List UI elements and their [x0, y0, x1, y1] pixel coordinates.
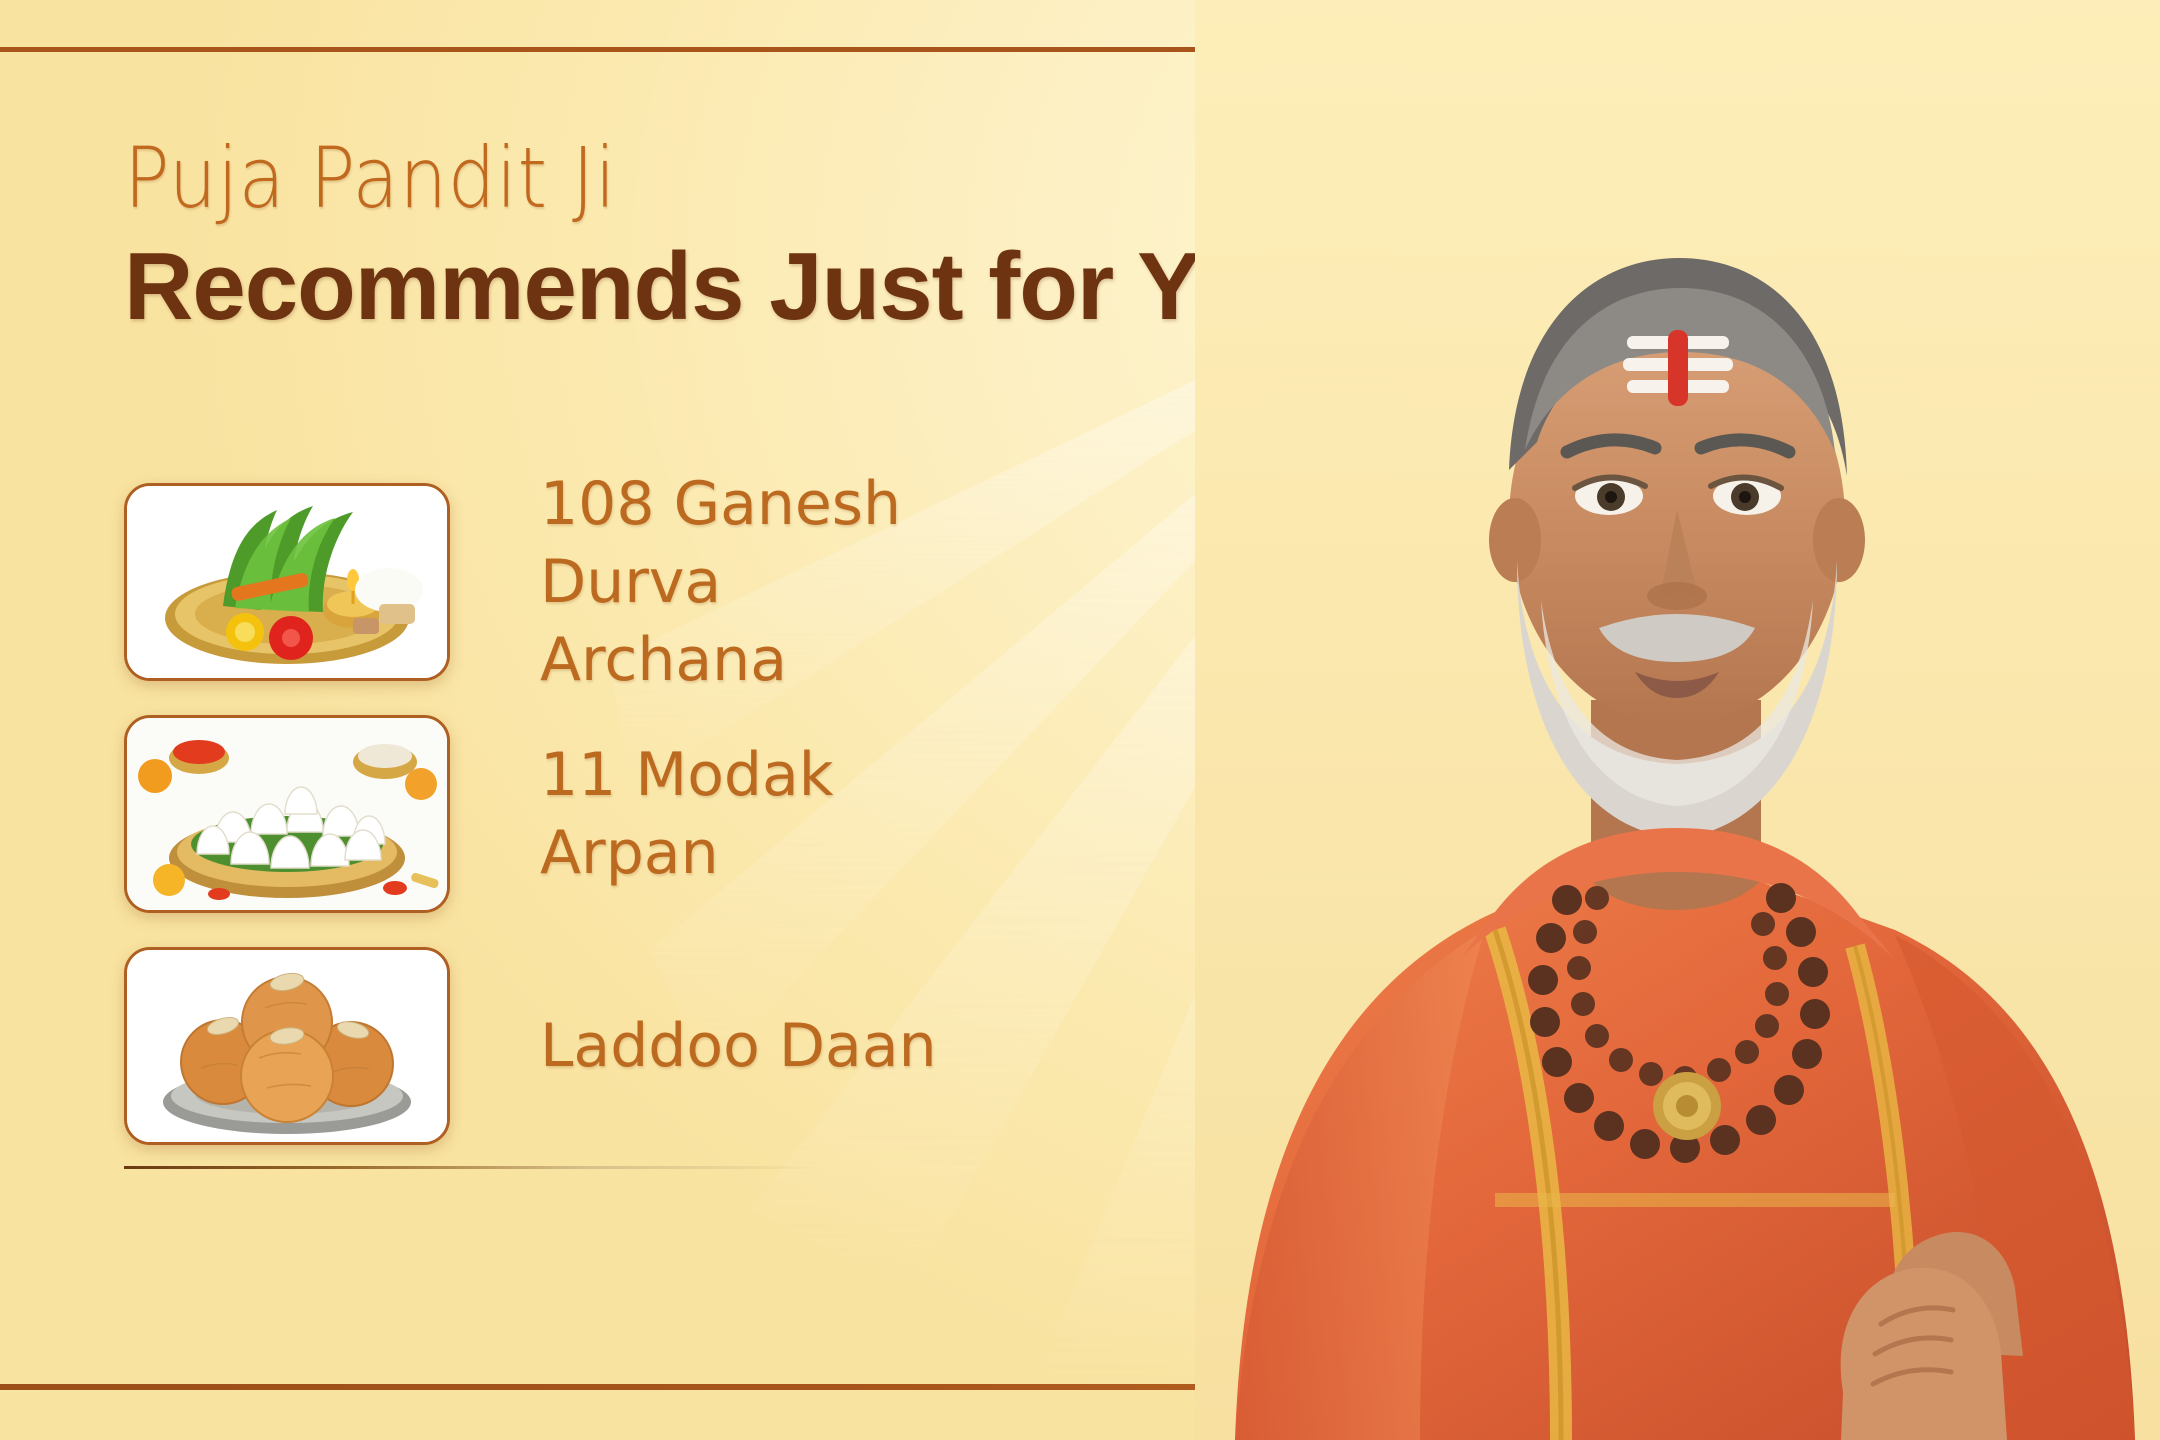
pandit-portrait — [1195, 0, 2160, 1440]
list-item[interactable]: 108 Ganesh Durva Archana — [124, 466, 944, 698]
modak-plate-thumbnail[interactable] — [124, 715, 450, 913]
list-item[interactable]: 11 Modak Arpan — [124, 698, 944, 930]
list-item[interactable]: Laddoo Daan — [124, 930, 944, 1162]
recommendation-list: 108 Ganesh Durva Archana — [124, 466, 944, 1162]
list-item-label: 11 Modak Arpan — [540, 736, 944, 892]
laddoo-plate-thumbnail[interactable] — [124, 947, 450, 1145]
list-divider — [124, 1166, 824, 1169]
durva-thali-thumbnail[interactable] — [124, 483, 450, 681]
banner-stage: Puja Pandit Ji Recommends Just for You — [0, 0, 2160, 1440]
list-item-label: 108 Ganesh Durva Archana — [540, 465, 944, 699]
list-item-label: Laddoo Daan — [540, 1007, 937, 1085]
